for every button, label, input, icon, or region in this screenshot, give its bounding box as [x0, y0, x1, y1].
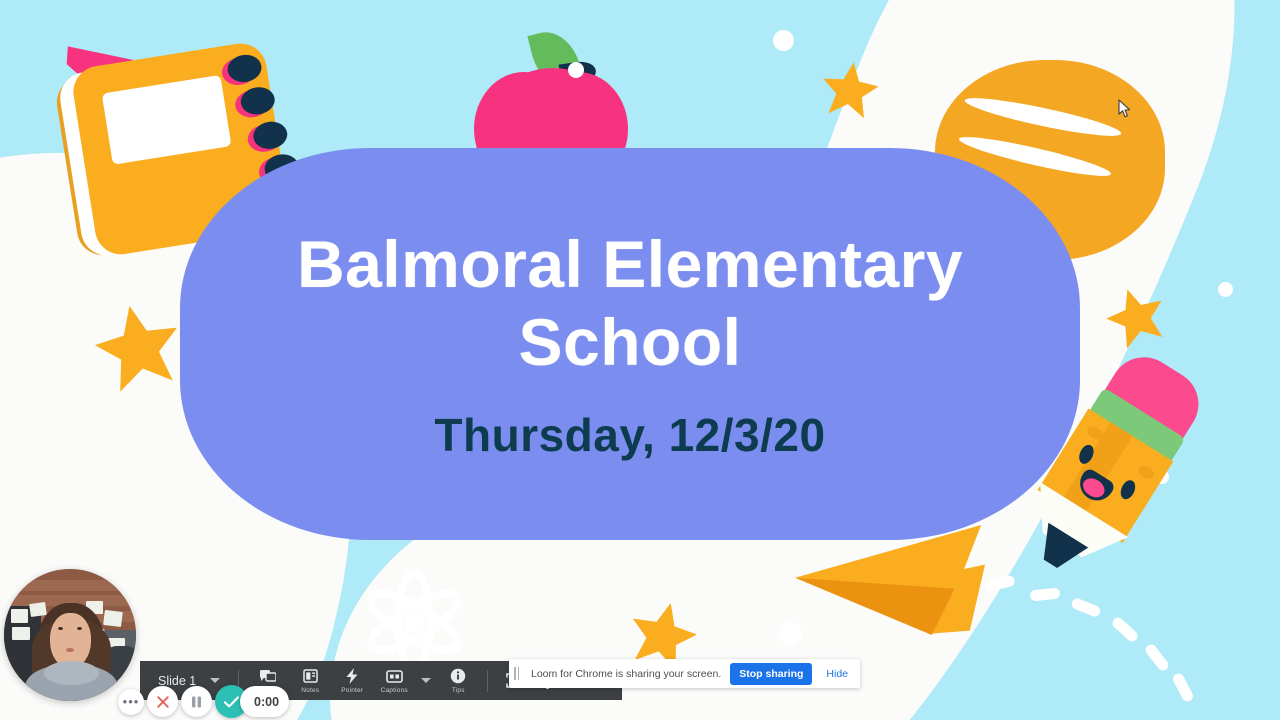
tips-icon — [450, 668, 466, 685]
toolbar-label-notes: Notes — [301, 687, 319, 694]
pause-icon — [190, 695, 203, 709]
close-icon — [156, 695, 170, 709]
chevron-down-icon — [210, 678, 220, 683]
check-icon — [223, 695, 240, 709]
toolbar-item-notes[interactable]: Notes — [289, 668, 331, 694]
qa-icon — [260, 668, 276, 685]
captions-icon — [386, 668, 403, 685]
notes-icon — [303, 668, 318, 685]
toolbar-item-tips[interactable]: Tips — [437, 668, 479, 694]
decorative-dot — [773, 30, 794, 51]
toolbar-item-pointer[interactable]: Pointer — [331, 668, 373, 694]
presentation-screen: Balmoral Elementary School Thursday, 12/… — [0, 0, 1280, 720]
toolbar-label-tips: Tips — [452, 687, 465, 694]
toolbar-divider — [487, 670, 488, 692]
loom-recorder-controls: ••• 0:00 — [118, 685, 289, 718]
more-options-button[interactable]: ••• — [118, 689, 144, 715]
paper-airplane-icon — [795, 525, 985, 635]
drag-handle-icon[interactable] — [514, 667, 522, 680]
recording-timer: 0:00 — [240, 686, 289, 717]
slide-title-card: Balmoral Elementary School Thursday, 12/… — [180, 148, 1080, 540]
mouse-cursor — [1118, 99, 1132, 124]
apple-shine — [568, 62, 584, 78]
cancel-recording-button[interactable] — [147, 686, 178, 717]
pause-recording-button[interactable] — [181, 686, 212, 717]
decorative-dot — [1218, 282, 1233, 297]
screen-share-notification: Loom for Chrome is sharing your screen. … — [509, 659, 860, 688]
slide-title: Balmoral Elementary School — [250, 226, 1010, 382]
stop-sharing-button[interactable]: Stop sharing — [730, 663, 812, 685]
captions-dropdown-button[interactable] — [415, 678, 437, 683]
toolbar-item-captions[interactable]: Captions — [373, 668, 415, 694]
toolbar-label-captions: Captions — [381, 687, 408, 694]
share-message: Loom for Chrome is sharing your screen. — [531, 668, 721, 680]
atom-icon — [358, 568, 470, 676]
pointer-icon — [345, 668, 359, 685]
hide-button[interactable]: Hide — [821, 668, 853, 680]
chevron-down-icon — [421, 678, 431, 683]
slide-subtitle: Thursday, 12/3/20 — [434, 408, 825, 462]
toolbar-label-pointer: Pointer — [341, 687, 363, 694]
presenter-webcam[interactable] — [4, 569, 136, 701]
